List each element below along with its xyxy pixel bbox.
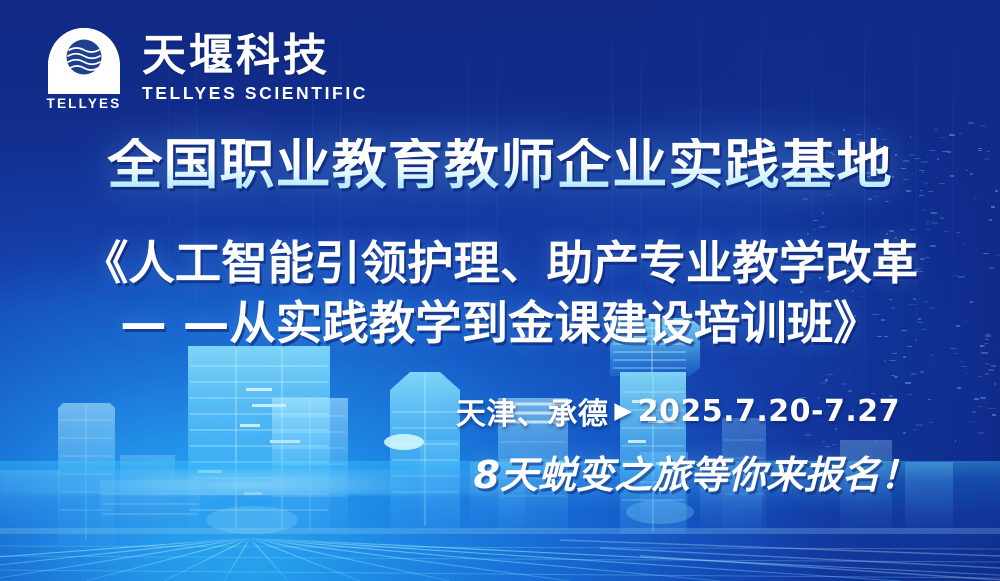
tellyes-dome-wave-icon: TELLYES bbox=[42, 26, 126, 114]
location-label: 天津、承德 bbox=[456, 389, 609, 433]
play-arrow-icon: ▶ bbox=[614, 400, 632, 423]
brand-name-en: TELLYES SCIENTIFIC bbox=[142, 83, 368, 104]
course-subtitle-line2: — —从实践教学到金课建设培训班》 bbox=[0, 294, 1000, 354]
date-range-label: 2025.7.20-7.27 bbox=[638, 394, 900, 429]
brand-name-cn: 天堰科技 bbox=[142, 32, 368, 80]
course-subtitle-line1: 《人工智能引领护理、助产专业教学改革 bbox=[82, 236, 918, 290]
tagline: 8天蜕变之旅等你来报名！ bbox=[474, 444, 918, 499]
page-title: 全国职业教育教师企业实践基地 bbox=[0, 138, 1000, 192]
promo-banner: TELLYES 天堰科技 TELLYES SCIENTIFIC 全国职业教育教师… bbox=[0, 0, 1000, 581]
location-date-line: 天津、承德 ▶ 2025.7.20-7.27 bbox=[456, 389, 900, 433]
course-subtitle: 《人工智能引领护理、助产专业教学改革 — —从实践教学到金课建设培训班》 bbox=[0, 234, 1000, 354]
brand-logo: TELLYES 天堰科技 TELLYES SCIENTIFIC bbox=[42, 26, 368, 114]
logo-wordmark: TELLYES bbox=[42, 96, 126, 111]
